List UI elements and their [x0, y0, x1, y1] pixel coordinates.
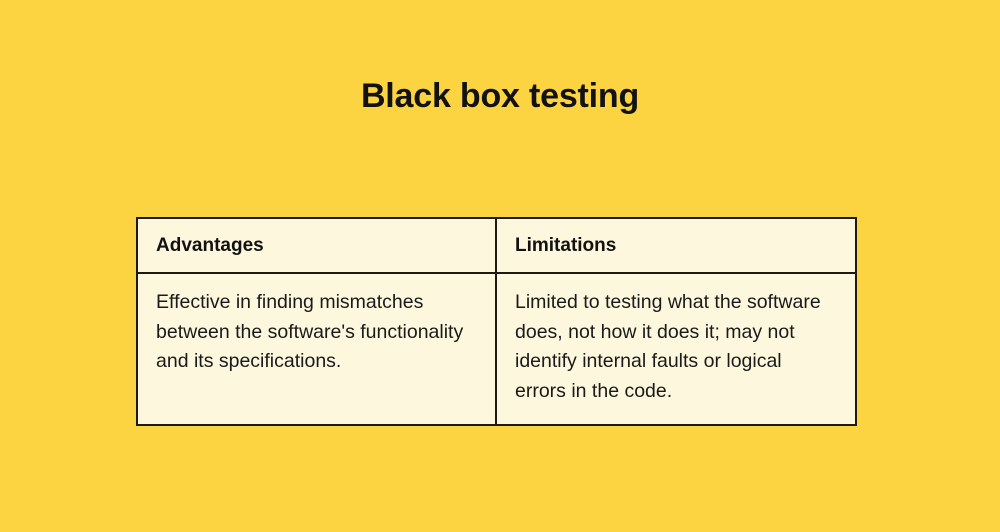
column-header-advantages-label: Advantages: [138, 219, 495, 272]
table-header: Advantages Limitations: [137, 218, 856, 273]
column-header-advantages: Advantages: [137, 218, 496, 273]
table-row: Effective in finding mismatches between …: [137, 273, 856, 425]
column-header-limitations: Limitations: [496, 218, 856, 273]
page-title: Black box testing: [0, 74, 1000, 118]
column-header-limitations-label: Limitations: [497, 219, 855, 272]
cell-advantages-text: Effective in finding mismatches between …: [138, 274, 495, 395]
slide-canvas: Black box testing Advantages Limitations…: [0, 0, 1000, 532]
cell-advantages: Effective in finding mismatches between …: [137, 273, 496, 425]
cell-limitations: Limited to testing what the software doe…: [496, 273, 856, 425]
table-header-row: Advantages Limitations: [137, 218, 856, 273]
table-body: Effective in finding mismatches between …: [137, 273, 856, 425]
cell-limitations-text: Limited to testing what the software doe…: [497, 274, 855, 424]
comparison-table: Advantages Limitations Effective in find…: [136, 217, 857, 426]
